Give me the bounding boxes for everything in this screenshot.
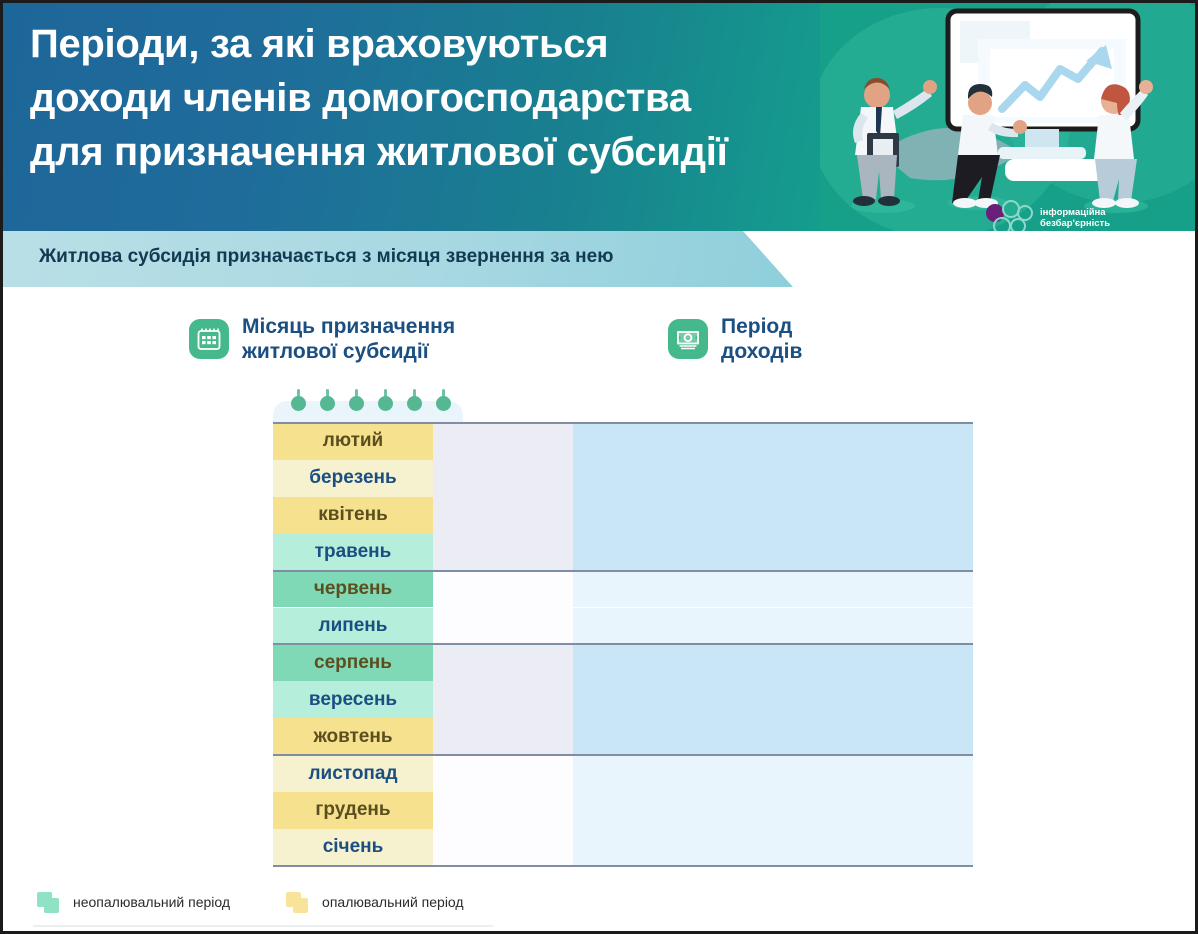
month-cell: серпень [273,644,433,681]
droplet-icon [291,389,306,411]
spacer-cell [433,608,573,645]
spacer-cell [433,718,573,755]
table-row[interactable]: червень [273,571,973,608]
income-period-cell [573,829,973,866]
table-row[interactable]: лютий [273,423,973,460]
column-header-income: Період доходів [668,314,802,364]
legend-divider [33,925,493,927]
logo-circles-icon [981,199,1033,231]
spacer-cell [433,681,573,718]
group-divider [273,643,973,645]
droplet-icon [320,389,335,411]
spacer-cell [433,755,573,792]
page-title: Періоди, за які враховуються доходи член… [30,17,860,179]
header-illustration [820,3,1195,231]
month-cell: квітень [273,497,433,534]
title-line-3: для призначення житлової субсидії [30,125,860,179]
month-cell: листопад [273,755,433,792]
table-row[interactable]: квітень [273,497,973,534]
income-period-cell [573,497,973,534]
spacer-cell [433,534,573,571]
legend-label: опалювальний період [322,894,464,910]
month-cell: грудень [273,792,433,829]
table-row[interactable]: березень [273,460,973,497]
month-cell: вересень [273,681,433,718]
month-cell: червень [273,571,433,608]
spacer-cell [433,423,573,460]
column-header-income-label: Період доходів [721,314,802,364]
brand-logo: інформаційна безбар'єрність [981,199,1110,231]
legend: неопалювальний періодопалювальний період [37,892,464,912]
subtitle-text: Житлова субсидія призначається з місяця … [39,246,613,268]
month-cell: липень [273,608,433,645]
income-period-cell [573,608,973,645]
table-row[interactable]: вересень [273,681,973,718]
group-divider [273,422,973,424]
income-period-cell [573,534,973,571]
table-row[interactable]: січень [273,829,973,866]
legend-swatch [286,892,312,912]
income-period-cell [573,571,973,608]
column-header-month-label: Місяць призначення житлової субсидії [242,314,455,364]
spacer-cell [433,829,573,866]
title-line-1: Періоди, за які враховуються [30,17,860,71]
logo-text: інформаційна безбар'єрність [1040,207,1110,230]
header-banner: Періоди, за які враховуються доходи член… [3,3,1195,231]
table-row[interactable]: травень [273,534,973,571]
spacer-cell [433,792,573,829]
legend-label: неопалювальний період [73,894,230,910]
calendar-icon [189,319,229,359]
income-period-cell [573,792,973,829]
legend-item-heating: опалювальний період [286,892,464,912]
droplet-icon [349,389,364,411]
spacer-cell [433,644,573,681]
income-period-cell [573,460,973,497]
title-line-2: доходи членів домогосподарства [30,71,860,125]
month-cell: березень [273,460,433,497]
group-divider [273,865,973,867]
income-period-cell [573,681,973,718]
table-row[interactable]: жовтень [273,718,973,755]
droplet-icon [407,389,422,411]
income-period-cell [573,644,973,681]
table-row[interactable]: грудень [273,792,973,829]
column-header-month: Місяць призначення житлової субсидії [189,314,455,364]
subtitle-banner: Житлова субсидія призначається з місяця … [3,231,1195,287]
banknote-icon [668,319,708,359]
income-period-cell [573,755,973,792]
table-row[interactable]: липень [273,608,973,645]
group-divider [273,754,973,756]
table-row[interactable]: листопад [273,755,973,792]
spacer-cell [433,571,573,608]
month-cell: травень [273,534,433,571]
spacer-cell [433,460,573,497]
income-period-cell [573,718,973,755]
table-row[interactable]: серпень [273,644,973,681]
droplet-icon [436,389,451,411]
spacer-cell [433,497,573,534]
schedule-table: III-IV кварталипопереднього рокуIV кварт… [273,423,973,866]
month-cell: жовтень [273,718,433,755]
month-cell: лютий [273,423,433,460]
legend-swatch [37,892,63,912]
droplet-decoration [291,389,451,411]
droplet-icon [378,389,393,411]
month-cell: січень [273,829,433,866]
group-divider [273,570,973,572]
infographic-page: Періоди, за які враховуються доходи член… [0,0,1198,934]
legend-item-nonheating: неопалювальний період [37,892,230,912]
income-period-cell [573,423,973,460]
